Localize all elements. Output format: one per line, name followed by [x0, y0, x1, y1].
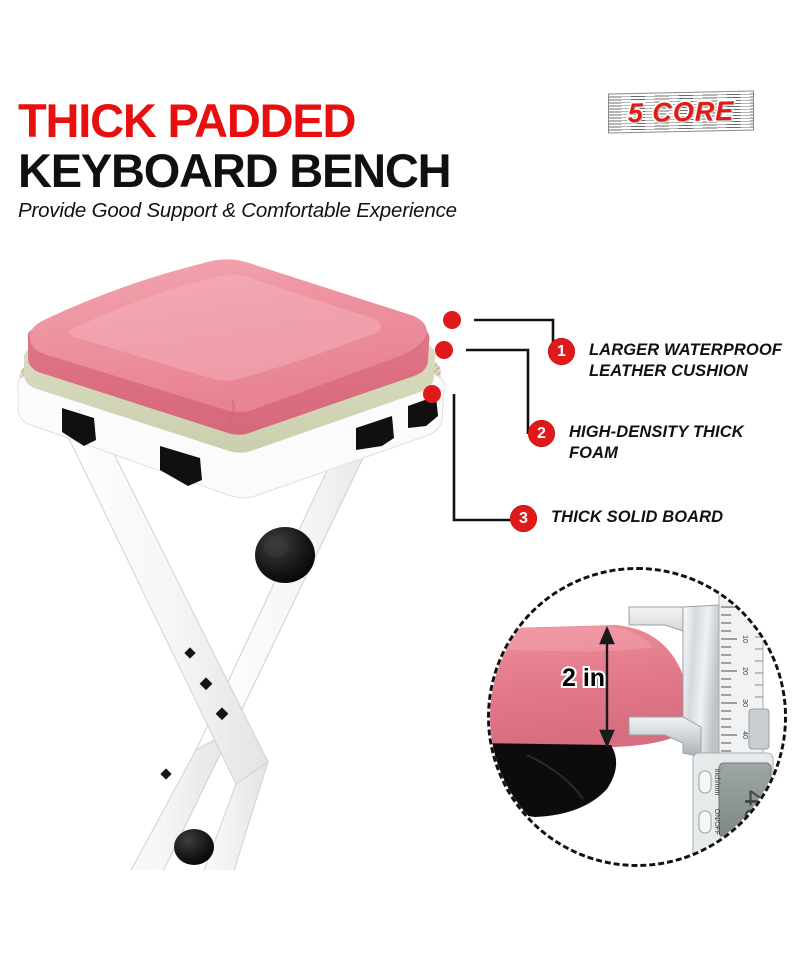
callout-label-2: HIGH-DENSITY THICK FOAM: [569, 420, 744, 464]
product-image-bench: [0, 250, 470, 870]
callout-item-3: 3 THICK SOLID BOARD: [510, 505, 723, 532]
page-title-primary: THICK PADDED: [18, 96, 618, 145]
caliper-scale-label: 0: [741, 605, 748, 609]
caliper-scale-label: 10: [741, 635, 748, 643]
caliper-label-inch-mm: inch/mm: [713, 769, 720, 796]
page-title-secondary: KEYBOARD BENCH: [18, 145, 618, 196]
callout-label-3: THICK SOLID BOARD: [551, 505, 723, 528]
caliper-scale-label: 20: [741, 667, 748, 675]
caliper-label-on-off: ON/OFF: [713, 809, 720, 835]
callout-badge-1: 1: [548, 338, 575, 365]
caliper-scale-label: 40: [741, 731, 748, 739]
callout-anchor-dot-2: [435, 341, 453, 359]
callout-item-1: 1 LARGER WATERPROOF LEATHER CUSHION: [548, 338, 782, 382]
callout-badge-2: 2: [528, 420, 555, 447]
logo-text: 5 CORE: [608, 90, 754, 133]
caliper-display-body: 40 inch/mm ON/OFF: [693, 753, 773, 865]
caliper-lcd-reading: 40: [735, 789, 769, 825]
callout-item-2: 2 HIGH-DENSITY THICK FOAM: [528, 420, 744, 464]
callout-badge-3: 3: [510, 505, 537, 532]
page-subtitle: Provide Good Support & Comfortable Exper…: [18, 198, 618, 224]
caliper-button-inch-mm: [699, 771, 711, 793]
product-infographic: THICK PADDED KEYBOARD BENCH Provide Good…: [0, 0, 800, 977]
brand-logo: 5 CORE: [608, 92, 754, 132]
caliper-button-on-off: [699, 811, 711, 833]
caliper-scale-label: 30: [741, 699, 748, 707]
callout-label-1: LARGER WATERPROOF LEATHER CUSHION: [589, 338, 782, 382]
height-adjustment-knob: [255, 527, 315, 583]
headline-block: THICK PADDED KEYBOARD BENCH Provide Good…: [18, 96, 618, 224]
callout-anchor-dot-1: [443, 311, 461, 329]
callout-anchor-dot-3: [423, 385, 441, 403]
inset-caliper-measurement: 0 10 20 30 40: [487, 567, 787, 867]
caliper-depth-bar: [749, 709, 769, 749]
lower-pivot-knob: [174, 829, 214, 865]
measurement-label: 2 in: [562, 664, 605, 693]
inset-photo-canvas: 0 10 20 30 40: [487, 567, 787, 867]
